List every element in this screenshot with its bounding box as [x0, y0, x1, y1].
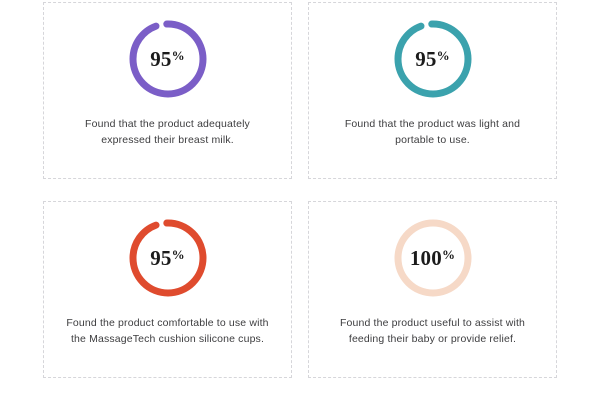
- gauge-value-number: 95: [150, 248, 171, 269]
- stats-gauge-grid: 95%Found that the product adequately exp…: [43, 2, 557, 392]
- donut-gauge: 95%: [390, 16, 476, 102]
- gauge-value-label: 95%: [125, 16, 211, 102]
- stat-card-caption: Found the product comfortable to use wit…: [61, 316, 275, 347]
- stat-card-caption: Found that the product was light and por…: [326, 117, 540, 148]
- stat-card-caption: Found the product useful to assist with …: [326, 316, 540, 347]
- stat-card-caption: Found that the product adequately expres…: [61, 117, 275, 148]
- donut-gauge: 100%: [390, 215, 476, 301]
- donut-gauge: 95%: [125, 16, 211, 102]
- stat-card: 100%Found the product useful to assist w…: [308, 201, 557, 378]
- gauge-value-label: 95%: [390, 16, 476, 102]
- gauge-value-number: 100: [410, 248, 442, 269]
- stat-card: 95%Found that the product adequately exp…: [43, 2, 292, 179]
- stat-card: 95%Found the product comfortable to use …: [43, 201, 292, 378]
- gauge-percent-sign: %: [172, 49, 185, 62]
- gauge-percent-sign: %: [442, 248, 455, 261]
- stat-card: 95%Found that the product was light and …: [308, 2, 557, 179]
- gauge-percent-sign: %: [172, 248, 185, 261]
- gauge-percent-sign: %: [437, 49, 450, 62]
- gauge-value-number: 95: [150, 49, 171, 70]
- gauge-value-label: 95%: [125, 215, 211, 301]
- donut-gauge: 95%: [125, 215, 211, 301]
- gauge-value-number: 95: [415, 49, 436, 70]
- gauge-value-label: 100%: [390, 215, 476, 301]
